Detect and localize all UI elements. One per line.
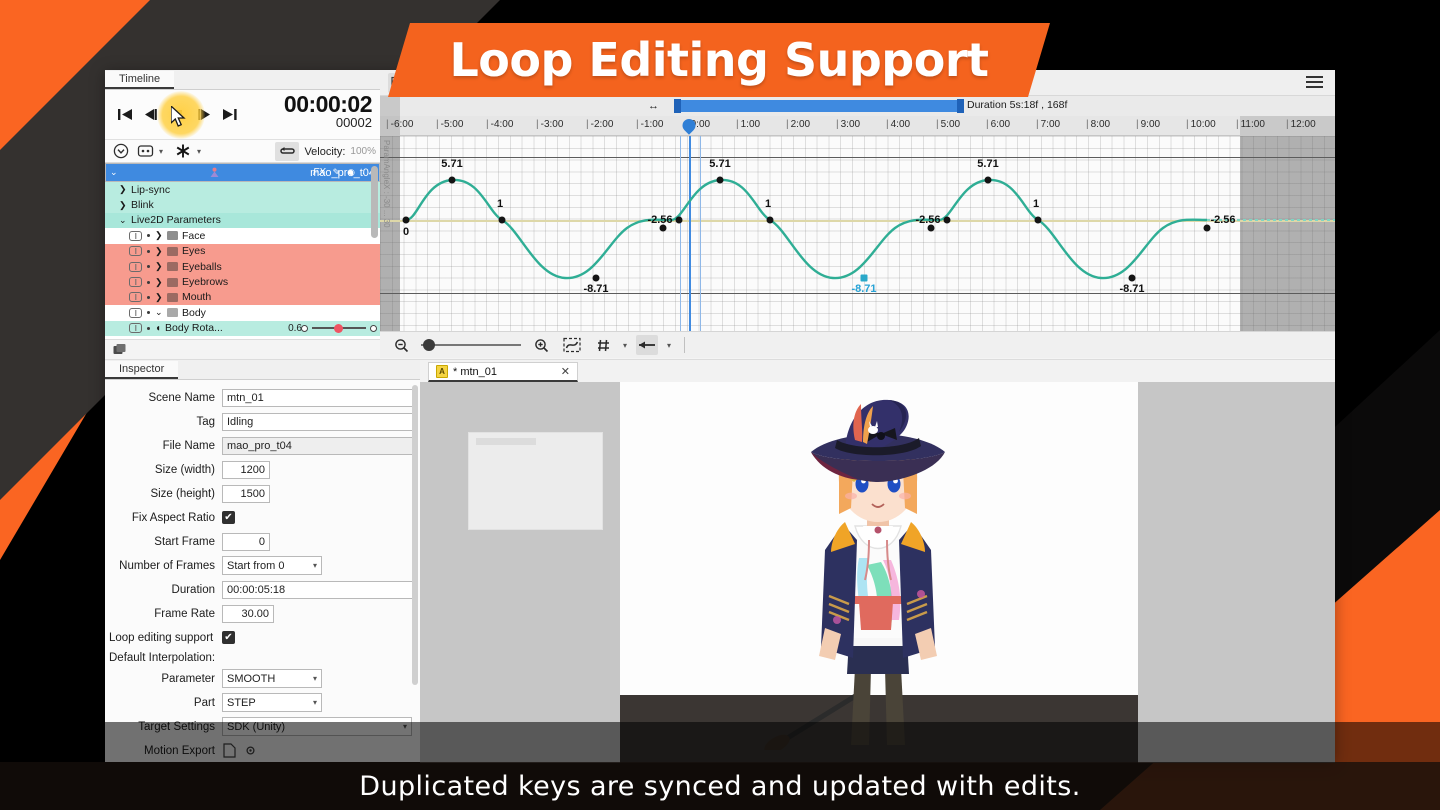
track-row-blink[interactable]: ❯ Blink — [105, 197, 380, 212]
track-row-body-rotation[interactable]: ◖ Body Rota... 0.6 — [105, 321, 380, 336]
ruler-tick: 10:00 — [1186, 119, 1216, 130]
ruler-tick: 7:00 — [1036, 119, 1060, 130]
keyframe-label: 1 — [765, 198, 771, 210]
field-label: Duration — [107, 584, 222, 596]
keyframe-label: -8.71 — [1119, 283, 1144, 295]
duration-input[interactable]: 00:00:05:18 — [222, 581, 414, 599]
toolbar-divider — [684, 337, 685, 353]
animation-curve — [380, 136, 1335, 331]
slider-thumb[interactable] — [334, 324, 343, 333]
velocity-label: Velocity: — [304, 146, 345, 158]
check-icon: ✔ — [224, 513, 232, 523]
field-label: Scene Name — [107, 392, 222, 404]
track-label: Live2D Parameters — [131, 214, 221, 226]
size-width-input[interactable]: 1200 — [222, 461, 270, 479]
track-row-live2d-parameters[interactable]: ⌄ Live2D Parameters — [105, 213, 380, 228]
close-icon[interactable]: ✕ — [561, 365, 570, 378]
tab-inspector[interactable]: Inspector — [105, 361, 178, 379]
field-label: Fix Aspect Ratio — [107, 512, 222, 524]
dot-icon[interactable] — [147, 311, 150, 314]
field-size-height: Size (height) 1500 — [107, 482, 416, 505]
keyframe-label: -2.56 — [1210, 214, 1235, 226]
chevron-down-circle-icon[interactable] — [111, 142, 131, 160]
ruler-tick: 4:00 — [886, 119, 910, 130]
folder-icon — [167, 247, 178, 256]
keyframe-label: 5.71 — [709, 158, 730, 170]
start-frame-input[interactable]: 0 — [222, 533, 270, 551]
field-file-name: File Name mao_pro_t04 — [107, 434, 416, 457]
tab-label: * mtn_01 — [453, 366, 497, 378]
track-label: Eyebrows — [182, 276, 228, 288]
field-duration: Duration 00:00:05:18 — [107, 578, 416, 601]
step-forward-icon[interactable] — [193, 103, 217, 127]
chevron-right-icon[interactable]: ❯ — [155, 230, 164, 241]
ruler-tick: -5:00 — [436, 119, 463, 130]
snap-asterisk-icon[interactable] — [173, 142, 193, 160]
step-back-icon[interactable] — [137, 103, 161, 127]
dot-icon[interactable] — [147, 296, 150, 299]
background-ghost-text — [476, 438, 536, 445]
ruler-tick: 9:00 — [1136, 119, 1160, 130]
keyframe-point[interactable] — [985, 177, 992, 184]
track-label: Eyeballs — [182, 261, 222, 273]
field-frame-rate: Frame Rate 30.00 — [107, 602, 416, 625]
viewport-panel: A * mtn_01 ✕ — [420, 359, 1335, 762]
field-label: Loop editing support — [107, 632, 222, 644]
curve-canvas[interactable]: ParamAngleX : -30 ... 30 0 5.71 1 -8.71 — [380, 136, 1335, 331]
field-label: Part — [107, 697, 222, 709]
keyframe-toggle-icon[interactable] — [129, 277, 142, 287]
hamburger-menu-icon[interactable] — [1306, 76, 1323, 91]
number-of-frames-select[interactable]: Start from 0 ▾ — [222, 556, 322, 575]
fix-aspect-ratio-checkbox[interactable]: ✔ — [222, 511, 235, 524]
inspector-tabbar: Inspector — [105, 360, 420, 380]
keyframe-label: 5.71 — [977, 158, 998, 170]
avatar — [763, 390, 993, 750]
part-interpolation-select[interactable]: STEP ▾ — [222, 693, 322, 712]
track-list[interactable]: ⌄ mao_pro_t04 FX ✎ ◉ · · ❯ Lip-sync — [105, 163, 380, 339]
chevron-down-icon[interactable]: ⌄ — [119, 215, 128, 226]
track-label: Face — [182, 230, 205, 242]
keyframe-point[interactable] — [1129, 275, 1136, 282]
default-interpolation-heading: Default Interpolation: — [107, 650, 416, 666]
timeline-tabbar: Timeline — [105, 70, 380, 90]
keyframe-point[interactable] — [717, 177, 724, 184]
folder-icon — [167, 231, 178, 240]
field-label: Size (width) — [107, 464, 222, 476]
timecode-display: 00:00:02 00002 — [284, 92, 372, 130]
track-row-lipsync[interactable]: ❯ Lip-sync — [105, 182, 380, 197]
ruler-tick: -1:00 — [636, 119, 663, 130]
keyframe-toggle-icon[interactable] — [129, 308, 142, 318]
chevron-right-icon[interactable]: ❯ — [155, 292, 164, 303]
velocity-value: 100% — [350, 146, 376, 157]
select-value: STEP — [227, 697, 256, 709]
track-row-mouth[interactable]: ❯ Mouth — [105, 290, 380, 305]
keyframe-toggle-icon[interactable] — [129, 246, 142, 256]
fit-curve-icon[interactable] — [561, 335, 583, 355]
track-label: Mouth — [182, 291, 211, 303]
chevron-down-icon: ▾ — [313, 698, 317, 707]
skip-to-end-icon[interactable] — [217, 103, 241, 127]
timeline-bottom-bar — [105, 339, 380, 359]
track-row-model[interactable]: ⌄ mao_pro_t04 FX ✎ ◉ · · — [105, 163, 380, 182]
transport-bar: 00:00:02 00002 — [105, 90, 380, 140]
chevron-right-icon[interactable]: ❯ — [155, 261, 164, 272]
track-label: Body — [182, 307, 206, 319]
keyframe-label: 1 — [1033, 198, 1039, 210]
loop-editing-support-checkbox[interactable]: ✔ — [222, 631, 235, 644]
background-ghost-panel — [468, 432, 603, 530]
ruler-tick: -6:00 — [386, 119, 413, 130]
slider-min-handle[interactable] — [301, 325, 308, 332]
loop-icon[interactable] — [275, 142, 299, 161]
chevron-right-icon[interactable]: ❯ — [119, 184, 128, 195]
chevron-down-icon-interp[interactable]: ▾ — [667, 341, 671, 350]
keyframe-label-selected: -8.71 — [851, 283, 876, 295]
live2d-file-icon: A — [436, 365, 448, 378]
keyframe-toggle-icon[interactable] — [129, 292, 142, 302]
parameter-interpolation-select[interactable]: SMOOTH ▾ — [222, 669, 322, 688]
model-icon — [209, 167, 220, 178]
track-row-eyebrows[interactable]: ❯ Eyebrows — [105, 274, 380, 289]
folder-icon — [167, 262, 178, 271]
ruler-tick: 6:00 — [986, 119, 1010, 130]
slider-track[interactable] — [312, 327, 366, 329]
track-label: Lip-sync — [131, 184, 170, 196]
title-banner: Loop Editing Support — [388, 23, 1050, 97]
chevron-down-icon: ▾ — [313, 674, 317, 683]
track-row-eyeballs[interactable]: ❯ Eyeballs — [105, 259, 380, 274]
keyframe-label: 1 — [497, 198, 503, 210]
keyframe-toggle-icon[interactable] — [129, 262, 142, 272]
duration-end-handle[interactable] — [957, 99, 964, 113]
parameter-value: 0.6 — [288, 323, 302, 334]
folder-open-icon — [167, 308, 178, 317]
field-label: Number of Frames — [107, 560, 222, 572]
velocity-control: Velocity: 100% — [275, 142, 376, 161]
field-label: Size (height) — [107, 488, 222, 500]
chevron-down-icon[interactable]: ⌄ — [110, 167, 119, 178]
keyframe-point[interactable] — [676, 217, 683, 224]
subtitle-band: Duplicated keys are synced and updated w… — [0, 762, 1440, 810]
viewport-canvas[interactable] — [420, 382, 1335, 763]
application-window: Timeline — [105, 70, 1335, 762]
tag-input[interactable]: Idling — [222, 413, 414, 431]
field-parameter-interpolation: Parameter SMOOTH ▾ — [107, 667, 416, 690]
inspector-scrollbar[interactable] — [412, 385, 418, 685]
frame-rate-input[interactable]: 30.00 — [222, 605, 274, 623]
skip-to-start-icon[interactable] — [113, 103, 137, 127]
chevron-right-icon[interactable]: ❯ — [155, 246, 164, 257]
parameter-icon: ◖ — [155, 323, 161, 334]
chevron-down-icon-grid[interactable]: ▾ — [623, 341, 627, 350]
keyframe-point[interactable] — [593, 275, 600, 282]
eye-icon[interactable]: ◉ — [347, 167, 355, 178]
timeline-panel: Timeline — [105, 70, 380, 359]
zoom-slider-thumb[interactable] — [423, 339, 435, 351]
ruler-tick: 8:00 — [1086, 119, 1110, 130]
time-ruler[interactable]: -6:00 -5:00 -4:00 -3:00 -2:00 -1:00 0:00… — [380, 116, 1335, 136]
track-badges[interactable]: FX ✎ ◉ · · — [313, 167, 375, 178]
duration-label: Duration 5s:18f , 168f — [967, 99, 1067, 111]
horizontal-resize-icon[interactable]: ↔ — [648, 100, 659, 112]
parameter-slider[interactable] — [301, 325, 377, 332]
dot-icon[interactable] — [147, 234, 150, 237]
chevron-right-icon[interactable]: ❯ — [155, 277, 164, 288]
field-size-width: Size (width) 1200 — [107, 458, 416, 481]
field-label: Tag — [107, 416, 222, 428]
zoom-in-icon[interactable] — [530, 335, 552, 355]
inspector-panel: Inspector Scene Name mtn_01 Tag Idling F… — [105, 359, 420, 762]
keyframe-toggle-icon[interactable] — [129, 323, 142, 333]
keyframe-label: -8.71 — [583, 283, 608, 295]
ruler-tick: 12:00 — [1286, 119, 1316, 130]
keyframe-point[interactable] — [403, 217, 410, 224]
graph-editor-bottom-toolbar: ▾ ▾ — [380, 331, 1335, 358]
keyframe-label: -2.56 — [915, 214, 940, 226]
ruler-tick: -4:00 — [486, 119, 513, 130]
duplicate-folder-icon[interactable] — [113, 343, 129, 357]
dot-icon[interactable] — [147, 281, 150, 284]
duration-range-bar[interactable] — [674, 100, 957, 112]
chevron-down-icon-snap[interactable]: ▾ — [197, 147, 201, 156]
track-label: Blink — [131, 199, 154, 211]
inspector-form: Scene Name mtn_01 Tag Idling File Name m… — [105, 380, 420, 762]
field-label: Parameter — [107, 673, 222, 685]
chevron-down-icon-onion[interactable]: ▾ — [159, 147, 163, 156]
file-name-input[interactable]: mao_pro_t04 — [222, 437, 414, 455]
keyframe-toggle-icon[interactable] — [129, 231, 142, 241]
fx-icon[interactable]: FX — [313, 167, 326, 178]
chevron-down-icon[interactable]: ⌄ — [155, 307, 164, 318]
field-fix-aspect-ratio: Fix Aspect Ratio ✔ — [107, 506, 416, 529]
ruler-tick: 2:00 — [786, 119, 810, 130]
dot-icon[interactable] — [147, 250, 150, 253]
graph-editor-panel: ▾ ↔ Duration 5s:18f , 168f -6:00 -5:00 -… — [380, 70, 1335, 359]
field-label: Frame Rate — [107, 608, 222, 620]
interpolation-linear-icon[interactable] — [636, 335, 658, 355]
scene-name-input[interactable]: mtn_01 — [222, 389, 414, 407]
onion-skin-icon[interactable] — [135, 142, 155, 160]
keyframe-point[interactable] — [449, 177, 456, 184]
tab-timeline[interactable]: Timeline — [105, 71, 174, 89]
timecode-value: 00:00:02 — [284, 92, 372, 116]
viewport-tabbar: A * mtn_01 ✕ — [420, 360, 1335, 382]
track-label: Eyes — [182, 245, 205, 257]
duration-left-dim — [380, 96, 400, 116]
folder-icon — [167, 278, 178, 287]
field-label: File Name — [107, 440, 222, 452]
grid-snap-icon[interactable] — [592, 335, 614, 355]
dot-icon[interactable] — [147, 265, 150, 268]
ruler-tick: 3:00 — [836, 119, 860, 130]
ruler-tick: 1:00 — [736, 119, 760, 130]
keyframe-label: 0 — [403, 226, 409, 238]
ruler-tick: 5:00 — [936, 119, 960, 130]
track-row-face[interactable]: ❯ Face — [105, 228, 380, 243]
field-number-of-frames: Number of Frames Start from 0 ▾ — [107, 554, 416, 577]
dot-icon[interactable]: · — [362, 168, 365, 178]
keyframe-point[interactable] — [944, 217, 951, 224]
pen-icon[interactable]: ✎ — [333, 167, 341, 178]
chevron-down-icon: ▾ — [313, 561, 317, 570]
field-loop-editing-support: Loop editing support ✔ — [107, 626, 416, 649]
ruler-tick: 11:00 — [1236, 119, 1265, 130]
ruler-tick: -3:00 — [536, 119, 563, 130]
folder-icon — [167, 293, 178, 302]
screenshot-root: Timeline — [0, 0, 1440, 810]
keyframe-label: -2.56 — [647, 214, 672, 226]
timeline-toolbar: ▾ ▾ Velocity: 100% — [105, 140, 380, 163]
zoom-out-icon[interactable] — [390, 335, 412, 355]
field-tag: Tag Idling — [107, 410, 416, 433]
field-start-frame: Start Frame 0 — [107, 530, 416, 553]
field-scene-name: Scene Name mtn_01 — [107, 386, 416, 409]
ruler-tick: -2:00 — [586, 119, 613, 130]
select-value: Start from 0 — [227, 560, 284, 572]
stop-icon[interactable] — [165, 103, 189, 127]
field-label: Start Frame — [107, 536, 222, 548]
chevron-right-icon[interactable]: ❯ — [119, 200, 128, 211]
banner-title: Loop Editing Support — [449, 33, 988, 87]
track-label: Body Rota... — [165, 322, 223, 334]
section-label: Default Interpolation: — [107, 652, 215, 664]
check-icon: ✔ — [224, 633, 232, 643]
select-value: SMOOTH — [227, 673, 275, 685]
keyframe-label: 5.71 — [441, 158, 462, 170]
subtitle-text: Duplicated keys are synced and updated w… — [359, 771, 1080, 802]
keyframe-point[interactable] — [1204, 225, 1211, 232]
keyframe-point[interactable] — [1035, 217, 1042, 224]
keyframe-point[interactable] — [499, 217, 506, 224]
slider-max-handle[interactable] — [370, 325, 377, 332]
track-row-body[interactable]: ⌄ Body — [105, 305, 380, 320]
size-height-input[interactable]: 1500 — [222, 485, 270, 503]
viewport-right-gutter — [1138, 382, 1335, 763]
track-row-eyes[interactable]: ❯ Eyes — [105, 244, 380, 259]
duration-bar: ↔ Duration 5s:18f , 168f — [380, 96, 1335, 116]
tab-mtn-01[interactable]: A * mtn_01 ✕ — [428, 362, 578, 382]
field-part-interpolation: Part STEP ▾ — [107, 691, 416, 714]
track-list-scrollbar[interactable] — [371, 166, 378, 238]
duration-start-handle[interactable] — [674, 99, 681, 113]
dot-icon[interactable] — [147, 327, 150, 330]
keyframe-point[interactable] — [767, 217, 774, 224]
zoom-slider[interactable] — [421, 344, 521, 346]
frame-number-value: 00002 — [284, 116, 372, 130]
keyframe-point-selected[interactable] — [861, 275, 868, 282]
